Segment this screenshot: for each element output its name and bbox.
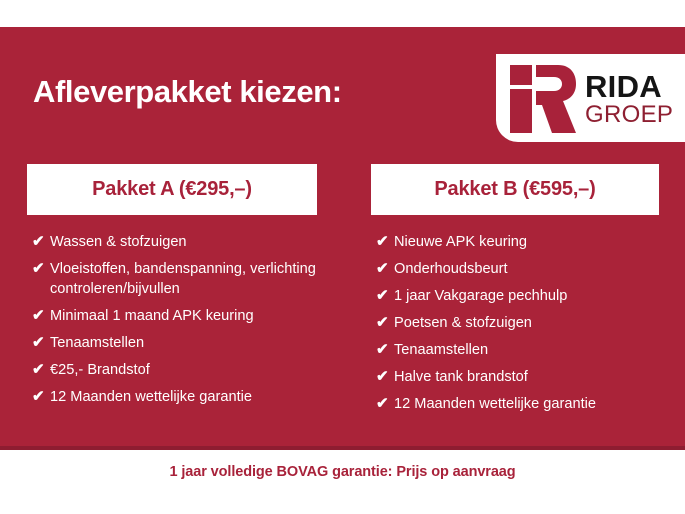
list-item: ✔ 12 Maanden wettelijke garantie <box>32 387 317 407</box>
list-item: ✔ Halve tank brandstof <box>376 367 659 387</box>
list-item-label: 12 Maanden wettelijke garantie <box>50 387 252 407</box>
list-item-label: Onderhoudsbeurt <box>394 259 508 279</box>
logo-name-groep: GROEP <box>585 102 673 127</box>
page-title: Afleverpakket kiezen: <box>33 74 342 110</box>
poster-header: Afleverpakket kiezen: RIDA GROEP <box>0 27 685 139</box>
list-item: ✔ 1 jaar Vakgarage pechhulp <box>376 286 659 306</box>
check-icon: ✔ <box>376 367 394 387</box>
list-item-label: Tenaamstellen <box>394 340 488 360</box>
check-icon: ✔ <box>376 340 394 360</box>
package-a-feature-list: ✔ Wassen & stofzuigen ✔ Vloeistoffen, ba… <box>27 215 317 407</box>
check-icon: ✔ <box>32 387 50 407</box>
check-icon: ✔ <box>32 259 50 279</box>
list-item-label: Poetsen & stofzuigen <box>394 313 532 333</box>
list-item-label: Tenaamstellen <box>50 333 144 353</box>
package-card-b[interactable]: Pakket B (€595,–) ✔ Nieuwe APK keuring ✔… <box>371 164 659 421</box>
list-item-label: Vloeistoffen, bandenspanning, verlichtin… <box>50 259 317 299</box>
list-item-label: Nieuwe APK keuring <box>394 232 527 252</box>
list-item: ✔ Poetsen & stofzuigen <box>376 313 659 333</box>
list-item: ✔ €25,- Brandstof <box>32 360 317 380</box>
logo-wordmark: RIDA GROEP <box>585 69 673 127</box>
check-icon: ✔ <box>32 232 50 252</box>
afleverpakket-poster: Afleverpakket kiezen: RIDA GROEP Pakket … <box>0 0 685 514</box>
rida-r-logo-icon <box>506 59 578 135</box>
list-item: ✔ Vloeistoffen, bandenspanning, verlicht… <box>32 259 317 299</box>
check-icon: ✔ <box>376 286 394 306</box>
list-item-label: €25,- Brandstof <box>50 360 150 380</box>
footer-guarantee-text: 1 jaar volledige BOVAG garantie: Prijs o… <box>169 464 515 480</box>
poster-footer: 1 jaar volledige BOVAG garantie: Prijs o… <box>0 450 685 514</box>
list-item-label: 12 Maanden wettelijke garantie <box>394 394 596 414</box>
list-item-label: Wassen & stofzuigen <box>50 232 187 252</box>
list-item: ✔ Tenaamstellen <box>376 340 659 360</box>
check-icon: ✔ <box>376 259 394 279</box>
list-item: ✔ Onderhoudsbeurt <box>376 259 659 279</box>
list-item: ✔ Minimaal 1 maand APK keuring <box>32 306 317 326</box>
list-item-label: Halve tank brandstof <box>394 367 528 387</box>
package-columns: Pakket A (€295,–) ✔ Wassen & stofzuigen … <box>0 164 685 426</box>
check-icon: ✔ <box>376 232 394 252</box>
list-item-label: Minimaal 1 maand APK keuring <box>50 306 254 326</box>
package-a-title: Pakket A (€295,–) <box>92 178 252 201</box>
list-item: ✔ Wassen & stofzuigen <box>32 232 317 252</box>
list-item: ✔ 12 Maanden wettelijke garantie <box>376 394 659 414</box>
check-icon: ✔ <box>376 394 394 414</box>
rida-groep-logo: RIDA GROEP <box>496 54 685 142</box>
list-item: ✔ Tenaamstellen <box>32 333 317 353</box>
list-item-label: 1 jaar Vakgarage pechhulp <box>394 286 567 306</box>
check-icon: ✔ <box>376 313 394 333</box>
package-a-header: Pakket A (€295,–) <box>27 164 317 215</box>
logo-name-rida: RIDA <box>585 71 673 102</box>
check-icon: ✔ <box>32 360 50 380</box>
package-b-header: Pakket B (€595,–) <box>371 164 659 215</box>
package-b-feature-list: ✔ Nieuwe APK keuring ✔ Onderhoudsbeurt ✔… <box>371 215 659 414</box>
check-icon: ✔ <box>32 333 50 353</box>
package-b-title: Pakket B (€595,–) <box>434 178 595 201</box>
check-icon: ✔ <box>32 306 50 326</box>
package-card-a[interactable]: Pakket A (€295,–) ✔ Wassen & stofzuigen … <box>27 164 317 414</box>
list-item: ✔ Nieuwe APK keuring <box>376 232 659 252</box>
